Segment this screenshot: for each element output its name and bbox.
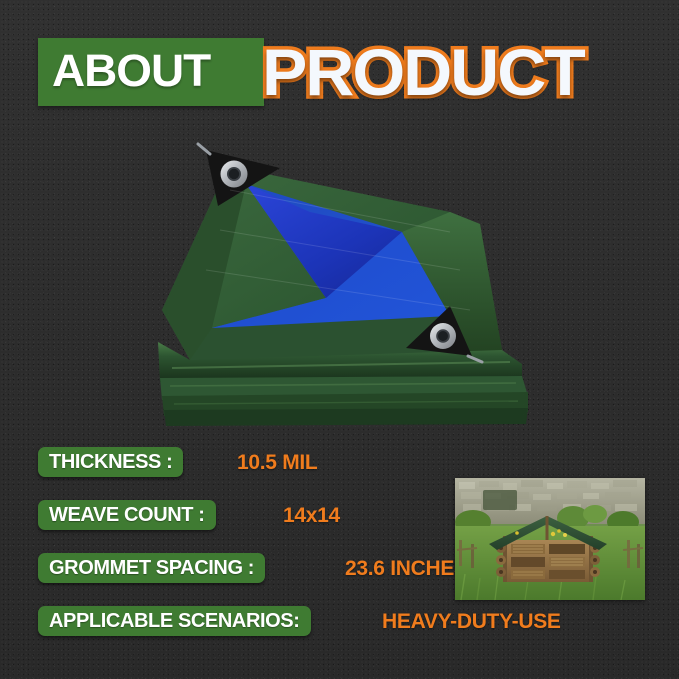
scenario-wall-opening xyxy=(483,490,517,510)
spec-label-grommet-spacing: GROMMET SPACING : xyxy=(49,557,254,580)
spec-value-weave-count: 14x14 xyxy=(283,501,340,530)
tarp-fold-4 xyxy=(164,408,528,426)
page-header: ABOUT PRODUCT xyxy=(0,30,679,114)
spec-label-applicable-scenarios: APPLICABLE SCENARIOS: xyxy=(49,610,300,633)
scenario-photo-insect-hotel xyxy=(455,478,645,600)
tarp-illustration xyxy=(150,120,540,430)
spec-value-grommet-spacing: 23.6 INCHES xyxy=(345,554,468,583)
spec-label-badge-thickness: THICKNESS : xyxy=(38,447,183,477)
page-title-about: ABOUT xyxy=(52,47,210,95)
spec-value-applicable-scenarios: HEAVY-DUTY-USE xyxy=(382,607,561,636)
spec-label-weave-count: WEAVE COUNT : xyxy=(49,504,205,527)
page-title-product: PRODUCT xyxy=(262,32,584,112)
product-photo-tarp xyxy=(150,120,540,430)
spec-row-applicable-scenarios: APPLICABLE SCENARIOS: HEAVY-DUTY-USE xyxy=(38,606,638,659)
scenario-illustration xyxy=(455,478,645,600)
infographic-page: ABOUT PRODUCT xyxy=(0,0,679,679)
spec-label-badge-grommet-spacing: GROMMET SPACING : xyxy=(38,553,265,583)
spec-label-badge-applicable-scenarios: APPLICABLE SCENARIOS: xyxy=(38,606,311,636)
spec-value-thickness: 10.5 MIL xyxy=(237,448,317,477)
spec-label-badge-weave-count: WEAVE COUNT : xyxy=(38,500,216,530)
grommet-cord-top xyxy=(198,144,210,154)
spec-label-thickness: THICKNESS : xyxy=(49,451,172,474)
